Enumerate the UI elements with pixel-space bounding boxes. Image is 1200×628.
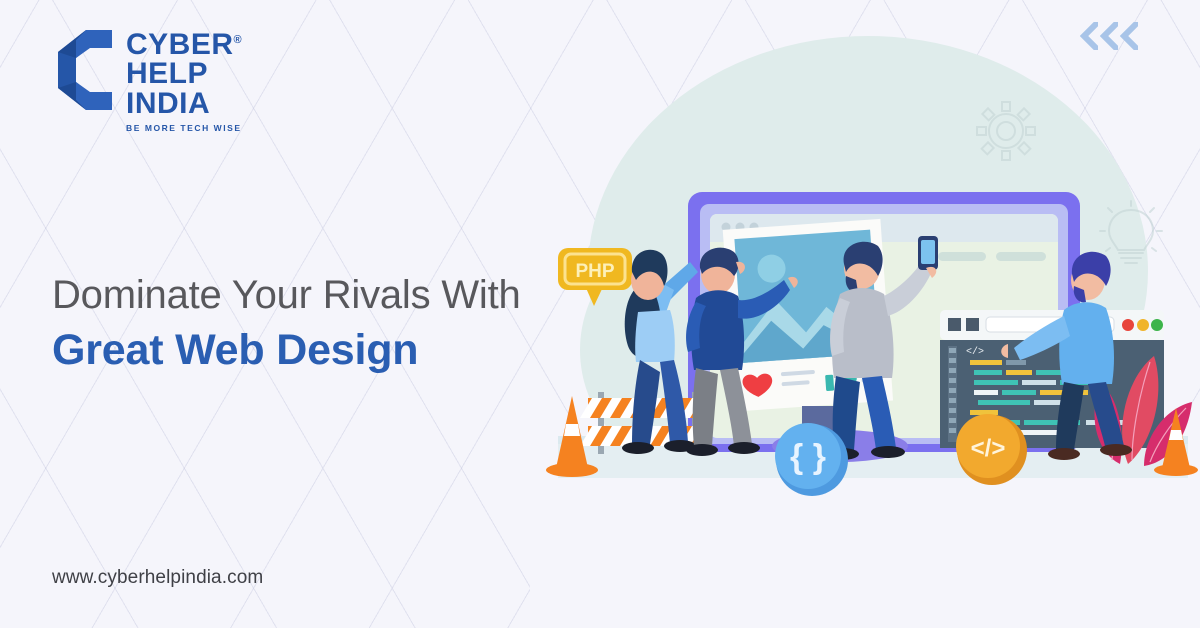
chevron-left-icon: [1120, 22, 1138, 50]
banner-root: CYBER® HELP INDIA BE MORE TECH WISE: [0, 0, 1200, 628]
brand-tagline: BE MORE TECH WISE: [126, 123, 242, 133]
traffic-light-green: [1151, 319, 1163, 331]
brand-name-line-1: CYBER®: [126, 30, 242, 59]
php-badge: PHP: [558, 248, 632, 306]
person-woman-raising-hand: [622, 250, 698, 454]
braces-badge-label: { }: [790, 438, 826, 476]
code-tag-badge-label: </>: [971, 435, 1006, 462]
chevron-left-icon: [1080, 22, 1098, 50]
brand-name-line-2: HELP: [126, 59, 242, 88]
brand-logo-text: CYBER® HELP INDIA BE MORE TECH WISE: [126, 28, 242, 133]
nav-pill: [938, 252, 986, 261]
illustration-svg: PHP </>: [540, 140, 1200, 500]
traffic-light-red: [1122, 319, 1134, 331]
headline-line-2: Great Web Design: [52, 325, 521, 376]
web-design-illustration: PHP </>: [540, 140, 1200, 500]
headline-block: Dominate Your Rivals With Great Web Desi…: [52, 272, 521, 376]
brand-name-line-3: INDIA: [126, 89, 242, 118]
php-badge-label: PHP: [575, 261, 614, 282]
brand-cyber-text: CYBER: [126, 28, 234, 61]
cyber-help-india-c-mark-icon: [46, 28, 114, 112]
nav-pill: [996, 252, 1046, 261]
code-open-tag: </>: [966, 346, 984, 358]
traffic-light-yellow: [1137, 319, 1149, 331]
chevron-left-icon: [1100, 22, 1118, 50]
decorative-chevrons: [1080, 22, 1138, 50]
website-url[interactable]: www.cyberhelpindia.com: [52, 567, 263, 589]
headline-line-1: Dominate Your Rivals With: [52, 272, 521, 319]
brand-logo[interactable]: CYBER® HELP INDIA BE MORE TECH WISE: [46, 28, 242, 133]
registered-trademark-mark: ®: [234, 34, 243, 46]
